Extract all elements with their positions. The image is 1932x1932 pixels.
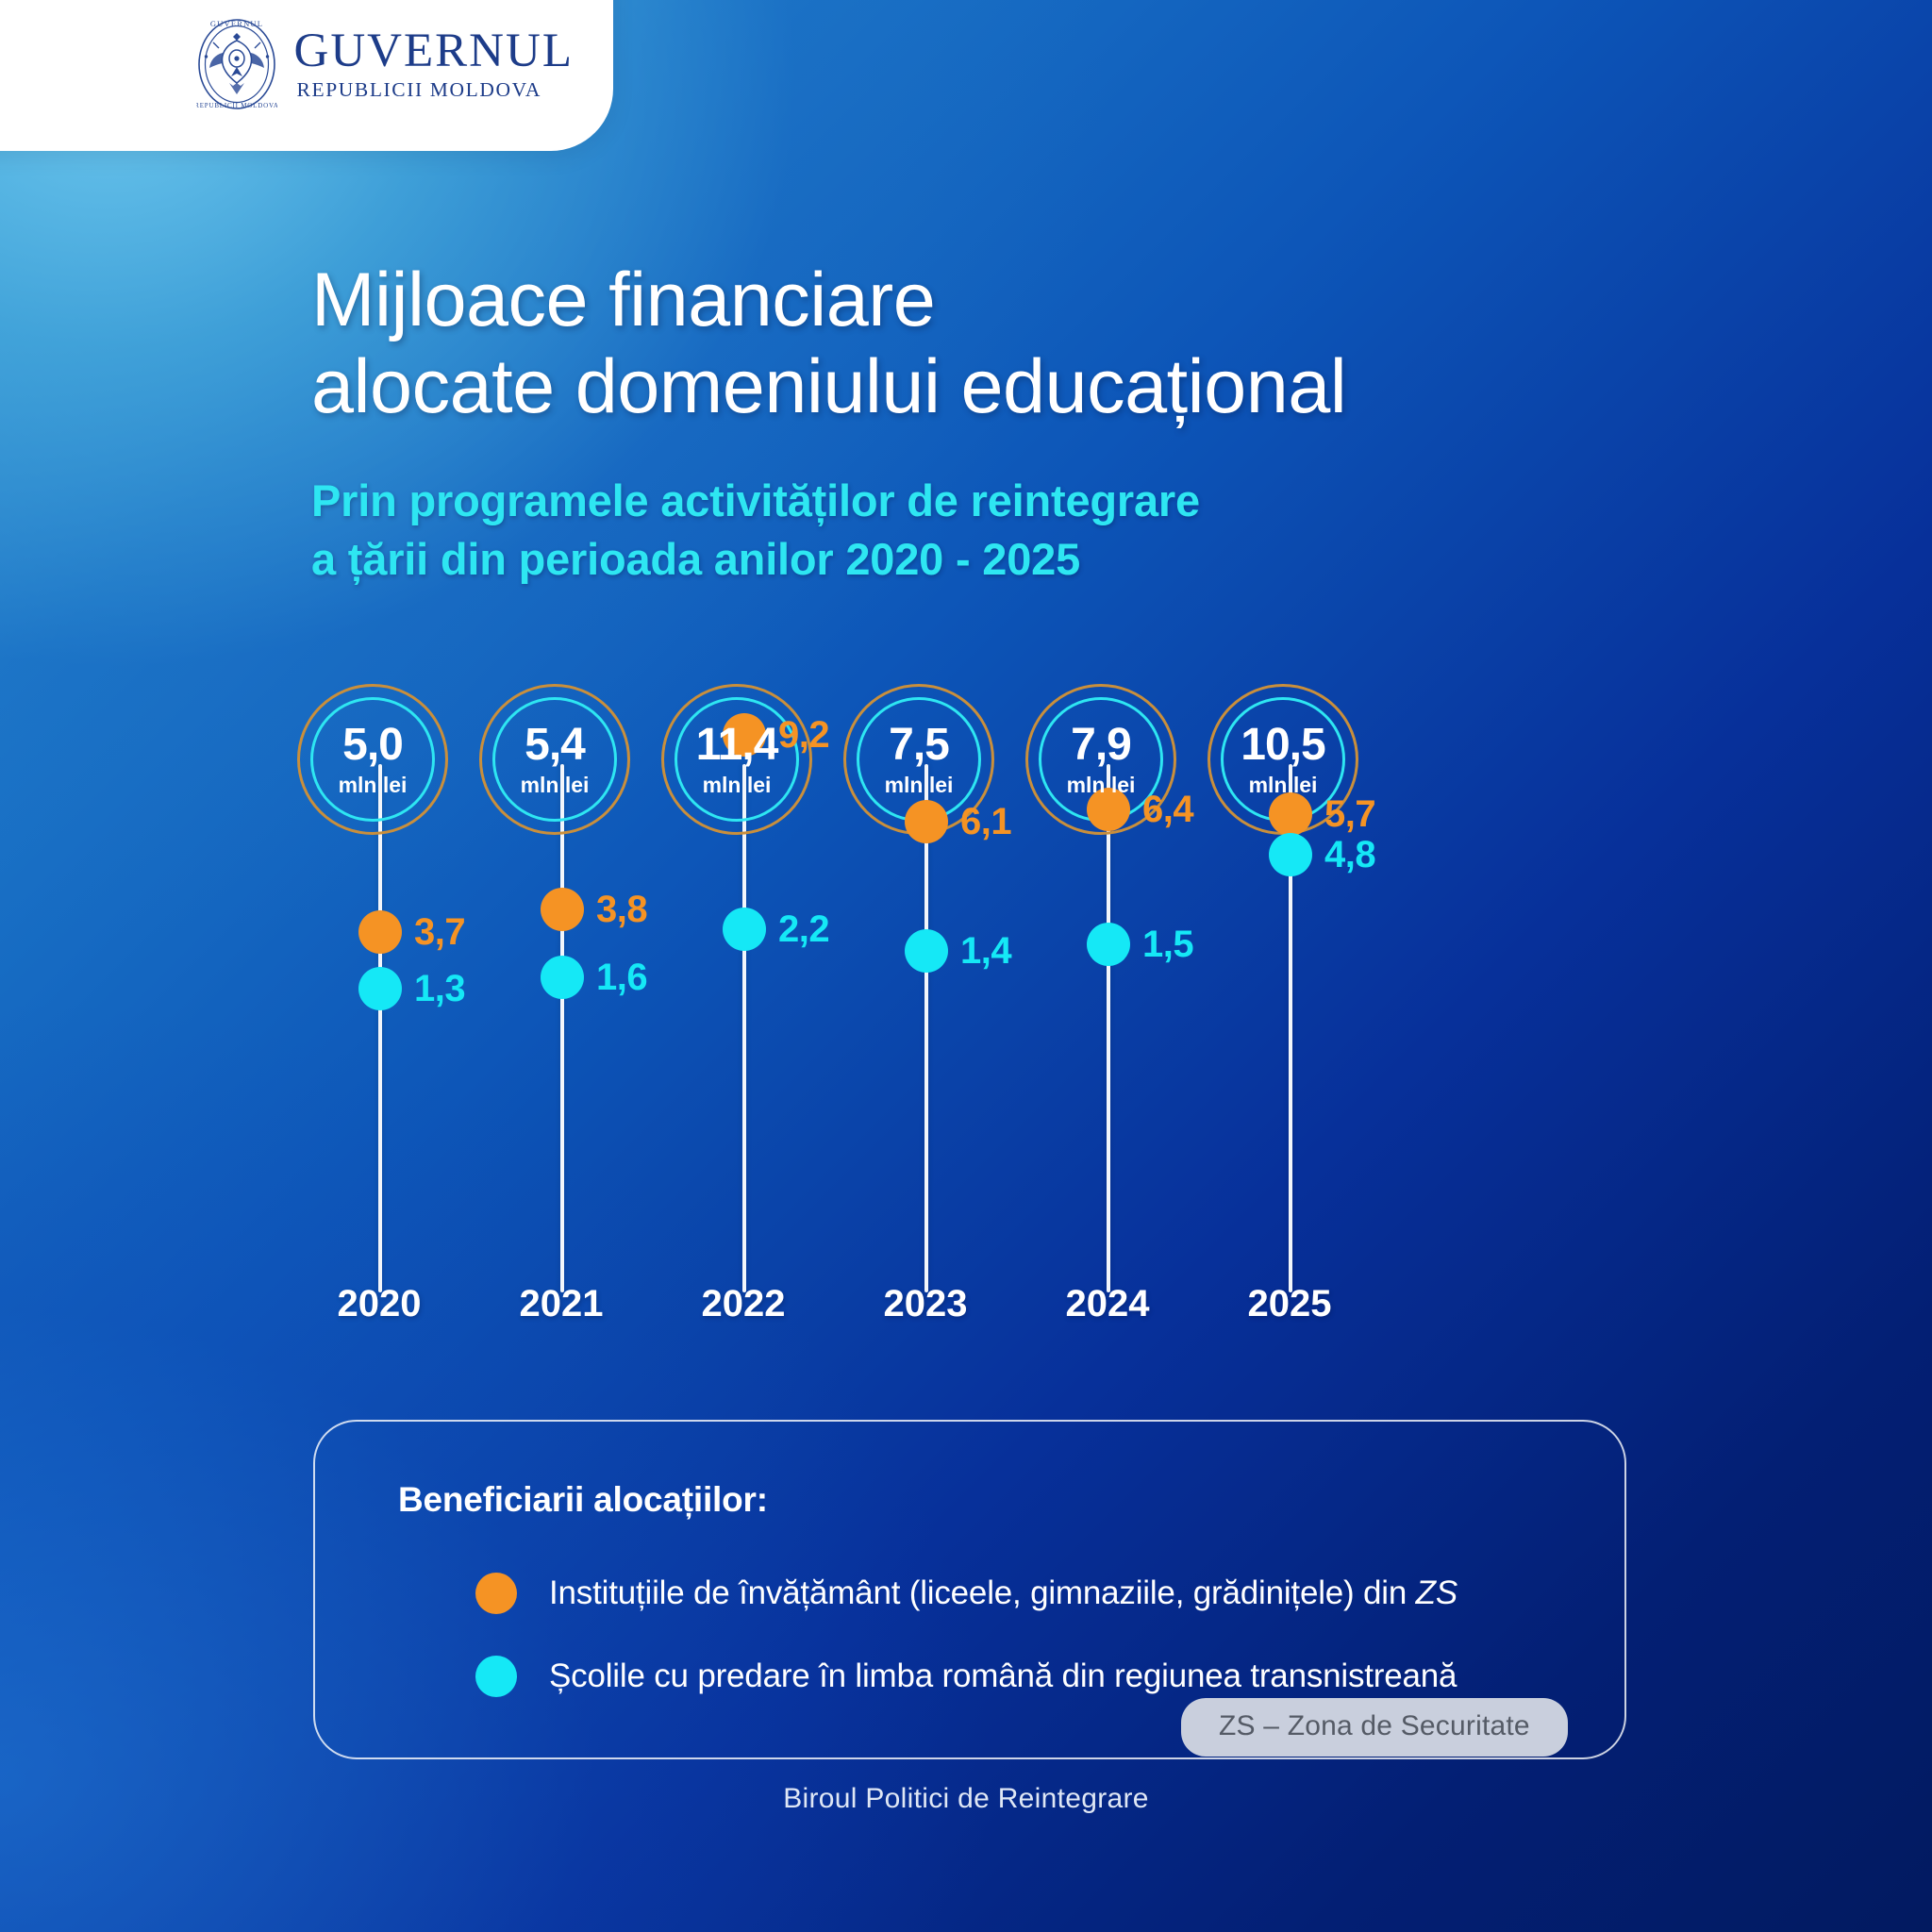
datapoint-dot	[905, 800, 948, 843]
total-bubble-2021: 5,4 mln lei	[479, 684, 630, 835]
axis-label-year: 2025	[1181, 1283, 1398, 1325]
title-line-1: Mijloace financiare	[311, 257, 1679, 343]
legend-item-institutions: Instituțiile de învățământ (liceele, gim…	[475, 1573, 1457, 1614]
column-stem	[560, 764, 564, 1292]
legend-label-text: Instituțiile de învățământ (liceele, gim…	[549, 1574, 1416, 1611]
subtitle-line-2: a țării din perioada anilor 2020 - 2025	[311, 530, 1679, 589]
datapoint-label: 1,6	[596, 957, 647, 998]
timeline-chart: 5,0 mln lei 3,7 1,3 2020 5,4 mln lei	[0, 660, 1932, 1321]
datapoint-dot	[1269, 792, 1312, 836]
bubble-unit: mln lei	[885, 774, 954, 796]
bubble-text: 10,5 mln lei	[1241, 723, 1324, 796]
datapoint-cyan-2021: 1,6	[453, 956, 670, 999]
logo-inner: GUVERNUL REPUBLICII MOLDOVA GUVERNUL REP…	[196, 17, 574, 111]
bubble-text: 5,0 mln lei	[339, 723, 408, 796]
datapoint-label: 1,5	[1142, 924, 1193, 965]
legend-item-label: Școlile cu predare în limba română din r…	[549, 1657, 1457, 1695]
datapoint-dot	[358, 910, 402, 954]
bubble-unit: mln lei	[1067, 774, 1136, 796]
zs-abbreviation-note: ZS – Zona de Securitate	[1181, 1698, 1568, 1757]
bubble-unit: mln lei	[1241, 774, 1324, 796]
column-stem	[742, 764, 746, 1292]
datapoint-dot	[1087, 923, 1130, 966]
datapoint-cyan-2025: 4,8	[1181, 833, 1398, 876]
legend-heading: Beneficiarii alocațiilor:	[398, 1480, 768, 1520]
datapoint-dot	[541, 956, 584, 999]
bubble-value: 10,5	[1241, 723, 1324, 768]
legend-item-schools: Școlile cu predare în limba română din r…	[475, 1656, 1457, 1697]
wordmark-line2: REPUBLICII MOLDOVA	[297, 80, 542, 101]
bubble-text: 5,4 mln lei	[521, 723, 590, 796]
bubble-unit: mln lei	[696, 774, 778, 796]
legend-item-label: Instituțiile de învățământ (liceele, gim…	[549, 1574, 1457, 1612]
bubble-value: 11,4	[696, 723, 778, 768]
datapoint-dot	[1269, 833, 1312, 876]
page-subtitle: Prin programele activităților de reinteg…	[311, 472, 1679, 589]
column-stem	[378, 764, 382, 1292]
government-logo-card: GUVERNUL REPUBLICII MOLDOVA GUVERNUL REP…	[0, 0, 613, 151]
legend-label-text: Școlile cu predare în limba română din r…	[549, 1657, 1457, 1694]
legend-label-emphasis: ZS	[1416, 1574, 1457, 1611]
datapoint-dot	[541, 888, 584, 931]
moldova-coat-of-arms-icon: GUVERNUL REPUBLICII MOLDOVA	[196, 17, 277, 111]
svg-text:REPUBLICII MOLDOVA: REPUBLICII MOLDOVA	[196, 102, 277, 109]
column-stem	[924, 764, 928, 1292]
column-stem	[1107, 764, 1110, 1292]
svg-text:GUVERNUL: GUVERNUL	[209, 19, 262, 28]
legend-swatch-orange-icon	[475, 1573, 517, 1614]
government-wordmark: GUVERNUL REPUBLICII MOLDOVA	[294, 27, 574, 101]
datapoint-label: 5,7	[1324, 793, 1375, 835]
datapoint-label: 9,2	[778, 714, 829, 756]
title-line-2: alocate domeniului educațional	[311, 343, 1679, 430]
total-bubble-2022: 11,4 mln lei	[661, 684, 812, 835]
infographic-canvas: GUVERNUL REPUBLICII MOLDOVA GUVERNUL REP…	[0, 0, 1932, 1932]
datapoint-dot	[905, 929, 948, 973]
datapoint-dot	[723, 908, 766, 951]
footer-attribution: Biroul Politici de Reintegrare	[0, 1783, 1932, 1815]
subtitle-line-1: Prin programele activităților de reinteg…	[311, 472, 1679, 530]
bubble-unit: mln lei	[339, 774, 408, 796]
datapoint-cyan-2024: 1,5	[999, 923, 1216, 966]
wordmark-line1: GUVERNUL	[294, 27, 574, 75]
datapoint-orange-2025: 5,7	[1181, 792, 1398, 836]
bubble-text: 7,5 mln lei	[885, 723, 954, 796]
bubble-value: 7,9	[1067, 723, 1136, 768]
legend-swatch-cyan-icon	[475, 1656, 517, 1697]
bubble-value: 5,4	[521, 723, 590, 768]
datapoint-label: 4,8	[1324, 834, 1375, 875]
bubble-value: 7,5	[885, 723, 954, 768]
bubble-value: 5,0	[339, 723, 408, 768]
bubble-unit: mln lei	[521, 774, 590, 796]
bubble-text: 7,9 mln lei	[1067, 723, 1136, 796]
bubble-text: 11,4 mln lei	[696, 723, 778, 796]
total-bubble-2020: 5,0 mln lei	[297, 684, 448, 835]
datapoint-dot	[358, 967, 402, 1010]
page-title: Mijloace financiare alocate domeniului e…	[311, 257, 1679, 431]
